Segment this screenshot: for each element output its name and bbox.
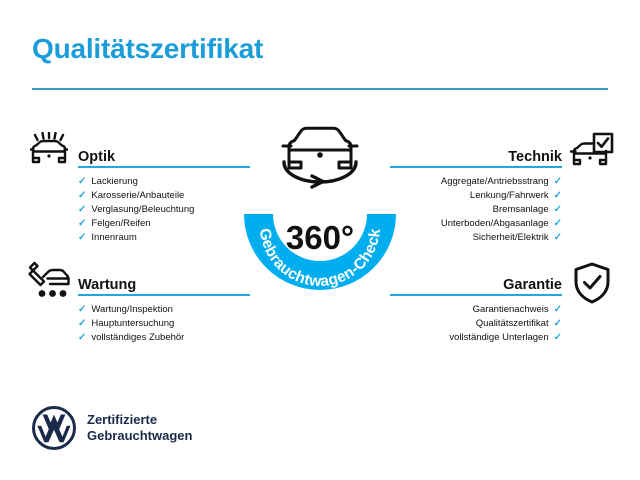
car-shine-icon (26, 132, 72, 174)
list-item: ✓vollständiges Zubehör (78, 331, 250, 345)
list-item-label: Qualitätszertifikat (476, 317, 549, 331)
car-checkbox-icon (568, 132, 614, 174)
check-icon: ✓ (554, 305, 562, 315)
check-icon: ✓ (554, 191, 562, 201)
section-title: Technik (508, 149, 562, 165)
section-title: Wartung (78, 277, 136, 293)
section-divider (78, 166, 250, 168)
list-item-label: Bremsanlage (493, 203, 549, 217)
list-item-label: Wartung/Inspektion (91, 303, 173, 317)
checklist: Garantienachweis✓ Qualitätszertifikat✓ v… (390, 303, 562, 345)
check-icon: ✓ (78, 333, 86, 343)
check-icon: ✓ (554, 319, 562, 329)
check-icon: ✓ (554, 333, 562, 343)
list-item-label: Verglasung/Beleuchtung (91, 203, 194, 217)
checklist: Aggregate/Antriebsstrang✓ Lenkung/Fahrwe… (390, 175, 562, 245)
check-icon: ✓ (78, 233, 86, 243)
list-item-label: Felgen/Reifen (91, 217, 150, 231)
list-item-label: Aggregate/Antriebsstrang (441, 175, 549, 189)
list-item: Garantienachweis✓ (390, 303, 562, 317)
list-item-label: Lenkung/Fahrwerk (470, 189, 549, 203)
list-item-label: vollständige Unterlagen (449, 331, 548, 345)
list-item: ✓Wartung/Inspektion (78, 303, 250, 317)
list-item: ✓Hauptuntersuchung (78, 317, 250, 331)
list-item: ✓Lackierung (78, 175, 250, 189)
section-garantie: Garantie Garantienachweis✓ Qualitätszert… (390, 268, 562, 345)
list-item-label: Innenraum (91, 231, 136, 245)
list-item: Qualitätszertifikat✓ (390, 317, 562, 331)
shield-check-icon (572, 262, 618, 304)
check-icon: ✓ (78, 191, 86, 201)
car-front-rotation-icon (283, 128, 357, 187)
list-item: Bremsanlage✓ (390, 203, 562, 217)
list-item-label: Garantienachweis (473, 303, 549, 317)
footer-text: Zertifizierte Gebrauchtwagen (87, 412, 192, 444)
section-divider (390, 294, 562, 296)
check-icon: ✓ (554, 233, 562, 243)
certificate-page: Qualitätszertifikat (0, 0, 640, 480)
360-gebrauchtwagen-check-badge: Gebrauchtwagen-Check 360° (238, 118, 402, 308)
list-item: Aggregate/Antriebsstrang✓ (390, 175, 562, 189)
car-service-wrench-icon (26, 260, 72, 302)
list-item-label: Lackierung (91, 175, 137, 189)
list-item-label: vollständiges Zubehör (91, 331, 184, 345)
check-icon: ✓ (78, 219, 86, 229)
section-header: Garantie (390, 268, 562, 294)
vw-certified-footer: Zertifizierte Gebrauchtwagen (32, 406, 192, 450)
list-item-label: Sicherheit/Elektrik (473, 231, 549, 245)
section-header: Optik (78, 140, 250, 166)
list-item: ✓Verglasung/Beleuchtung (78, 203, 250, 217)
list-item-label: Unterboden/Abgasanlage (441, 217, 549, 231)
check-icon: ✓ (78, 319, 86, 329)
list-item: Lenkung/Fahrwerk✓ (390, 189, 562, 203)
checklist: ✓Wartung/Inspektion ✓Hauptuntersuchung ✓… (78, 303, 250, 345)
check-icon: ✓ (554, 219, 562, 229)
list-item: ✓Felgen/Reifen (78, 217, 250, 231)
check-icon: ✓ (78, 177, 86, 187)
check-icon: ✓ (78, 205, 86, 215)
list-item-label: Karosserie/Anbauteile (91, 189, 184, 203)
footer-line-1: Zertifizierte (87, 412, 192, 428)
checklist: ✓Lackierung ✓Karosserie/Anbauteile ✓Verg… (78, 175, 250, 245)
section-divider (78, 294, 250, 296)
list-item: vollständige Unterlagen✓ (390, 331, 562, 345)
list-item: Unterboden/Abgasanlage✓ (390, 217, 562, 231)
list-item: ✓Karosserie/Anbauteile (78, 189, 250, 203)
list-item: ✓Innenraum (78, 231, 250, 245)
check-icon: ✓ (78, 305, 86, 315)
badge-center-label: 360° (286, 219, 354, 256)
page-title: Qualitätszertifikat (32, 33, 263, 65)
section-optik: Optik ✓Lackierung ✓Karosserie/Anbauteile… (78, 140, 250, 245)
check-icon: ✓ (554, 177, 562, 187)
check-icon: ✓ (554, 205, 562, 215)
list-item: Sicherheit/Elektrik✓ (390, 231, 562, 245)
section-technik: Technik Aggregate/Antriebsstrang✓ Lenkun… (390, 140, 562, 245)
section-wartung: Wartung ✓Wartung/Inspektion ✓Hauptunters… (78, 268, 250, 345)
section-title: Garantie (503, 277, 562, 293)
section-title: Optik (78, 149, 115, 165)
section-header: Technik (390, 140, 562, 166)
vw-logo (32, 406, 76, 450)
list-item-label: Hauptuntersuchung (91, 317, 174, 331)
section-header: Wartung (78, 268, 250, 294)
section-divider (390, 166, 562, 168)
title-divider (32, 88, 608, 90)
footer-line-2: Gebrauchtwagen (87, 428, 192, 444)
